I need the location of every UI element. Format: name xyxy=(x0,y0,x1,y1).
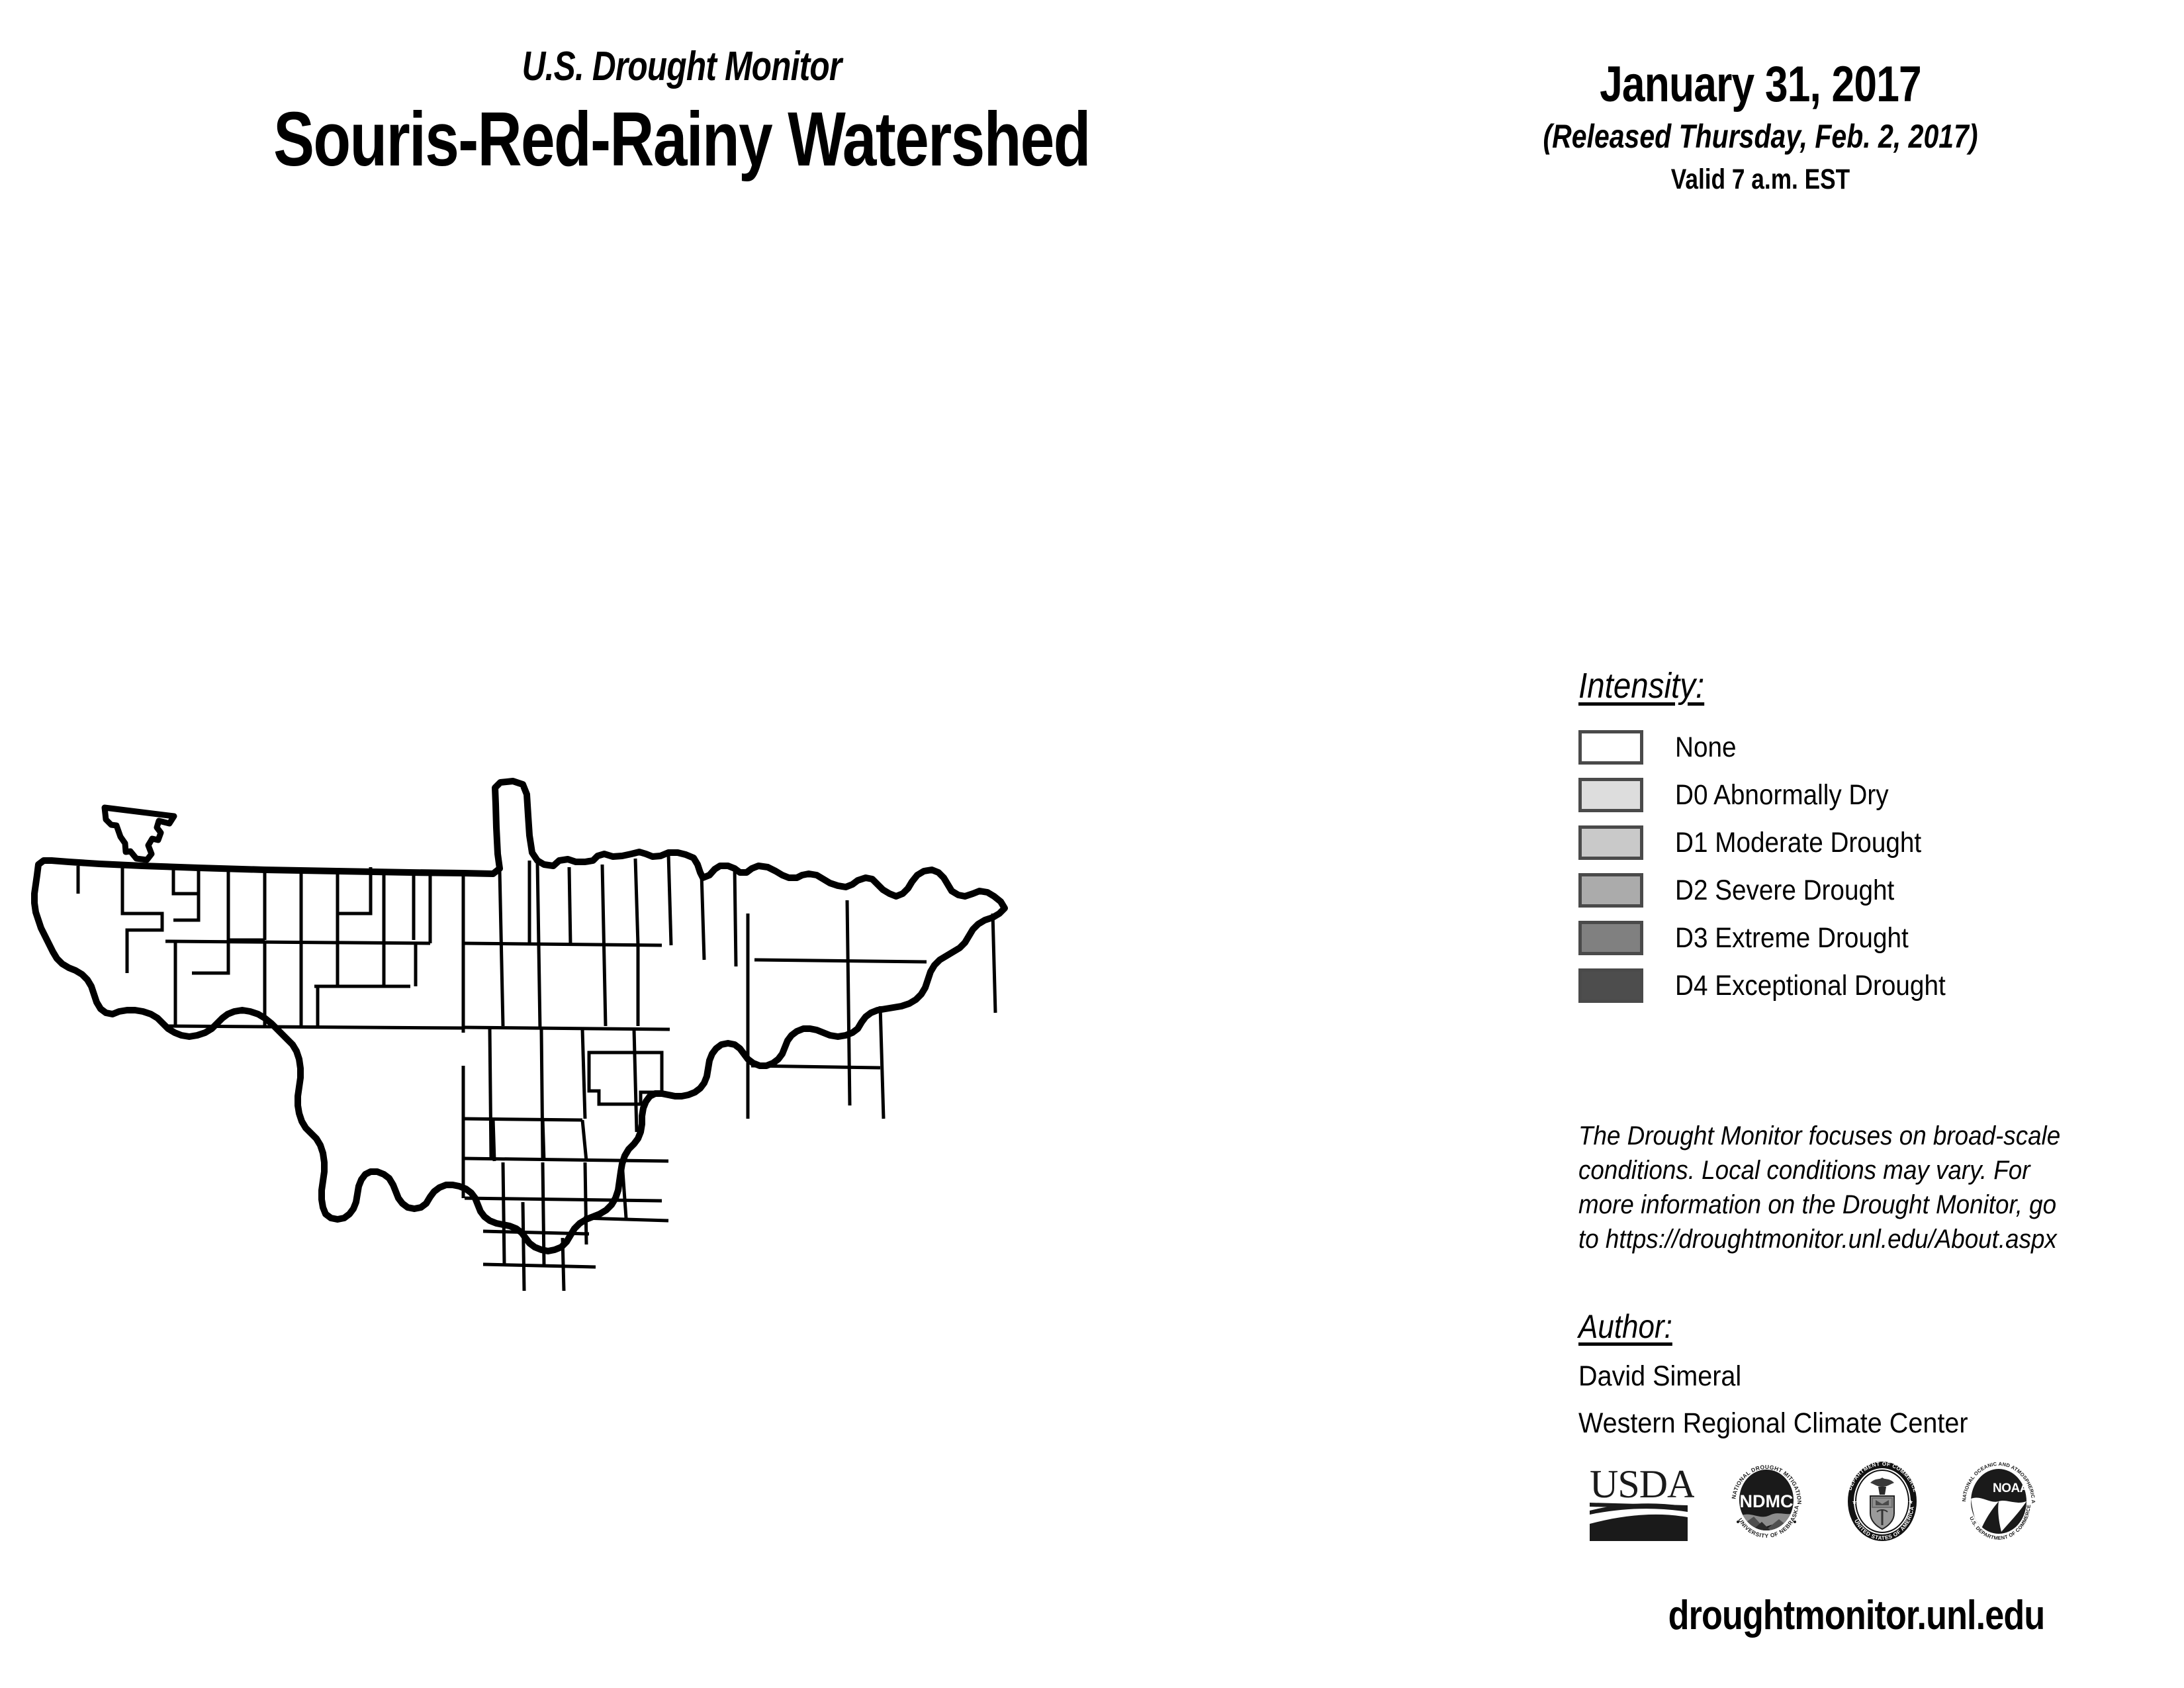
department-of-commerce-seal[interactable]: DEPARTMENT OF COMMERCE UNITED STATES OF … xyxy=(1839,1458,1926,1548)
intensity-legend: Intensity: None D0 Abnormally Dry D1 Mod… xyxy=(1578,665,2167,1009)
svg-text:NDMC: NDMC xyxy=(1740,1491,1794,1511)
svg-text:NOAA: NOAA xyxy=(1993,1481,2029,1495)
valid-time: Valid 7 a.m. EST xyxy=(1500,165,2021,195)
author-name: David Simeral xyxy=(1578,1360,2084,1393)
legend-item-d3[interactable]: D3 Extreme Drought xyxy=(1578,914,2167,962)
author-affiliation: Western Regional Climate Center xyxy=(1578,1407,2084,1440)
kicker-title: U.S. Drought Monitor xyxy=(136,46,1227,87)
legend-swatch-d3 xyxy=(1578,921,1643,955)
legend-swatch-d1 xyxy=(1578,825,1643,860)
legend-item-d0[interactable]: D0 Abnormally Dry xyxy=(1578,771,2167,819)
legend-item-d1[interactable]: D1 Moderate Drought xyxy=(1578,819,2167,867)
legend-item-none[interactable]: None xyxy=(1578,724,2167,771)
date-block: January 31, 2017 (Released Thursday, Feb… xyxy=(1443,60,2078,195)
legend-item-d2[interactable]: D2 Severe Drought xyxy=(1578,867,2167,914)
usda-logo[interactable]: USDA xyxy=(1588,1459,1694,1547)
legend-swatch-d4 xyxy=(1578,968,1643,1003)
legend-label-d4: D4 Exceptional Drought xyxy=(1675,970,1946,1002)
legend-label-d2: D2 Severe Drought xyxy=(1675,874,1894,907)
legend-swatch-d2 xyxy=(1578,873,1643,908)
legend-label-d1: D1 Moderate Drought xyxy=(1675,827,1921,859)
author-heading: Author: xyxy=(1578,1307,2062,1346)
map-svg xyxy=(0,695,1549,1291)
legend-swatch-d0 xyxy=(1578,778,1643,812)
site-url[interactable]: droughtmonitor.unl.edu xyxy=(1623,1592,2090,1639)
page-title: Souris-Red-Rainy Watershed xyxy=(136,95,1227,183)
watershed-map[interactable] xyxy=(0,695,1549,1291)
svg-text:USDA: USDA xyxy=(1590,1462,1694,1506)
legend-label-none: None xyxy=(1675,731,1737,764)
valid-date: January 31, 2017 xyxy=(1500,60,2021,110)
ndmc-logo[interactable]: NDMC NATIONAL DROUGHT MITIGATION CENTER … xyxy=(1723,1458,1809,1548)
page-title-block: U.S. Drought Monitor Souris-Red-Rainy Wa… xyxy=(0,46,1363,183)
legend-heading: Intensity: xyxy=(1578,665,2097,706)
svg-text:★: ★ xyxy=(1908,1499,1913,1505)
disclaimer-text: The Drought Monitor focuses on broad-sca… xyxy=(1578,1119,2077,1256)
legend-label-d3: D3 Extreme Drought xyxy=(1675,922,1909,955)
author-block: Author: David Simeral Western Regional C… xyxy=(1578,1307,2128,1440)
noaa-logo[interactable]: NOAA NATIONAL OCEANIC AND ATMOSPHERIC AD… xyxy=(1955,1458,2042,1548)
release-date: (Released Thursday, Feb. 2, 2017) xyxy=(1500,119,2021,154)
legend-item-d4[interactable]: D4 Exceptional Drought xyxy=(1578,962,2167,1009)
drought-monitor-page: U.S. Drought Monitor Souris-Red-Rainy Wa… xyxy=(0,0,2184,1688)
legend-label-d0: D0 Abnormally Dry xyxy=(1675,779,1889,812)
partner-logos: USDA NDMC xyxy=(1588,1450,2118,1556)
legend-swatch-none xyxy=(1578,730,1643,765)
svg-text:★: ★ xyxy=(1852,1499,1857,1505)
